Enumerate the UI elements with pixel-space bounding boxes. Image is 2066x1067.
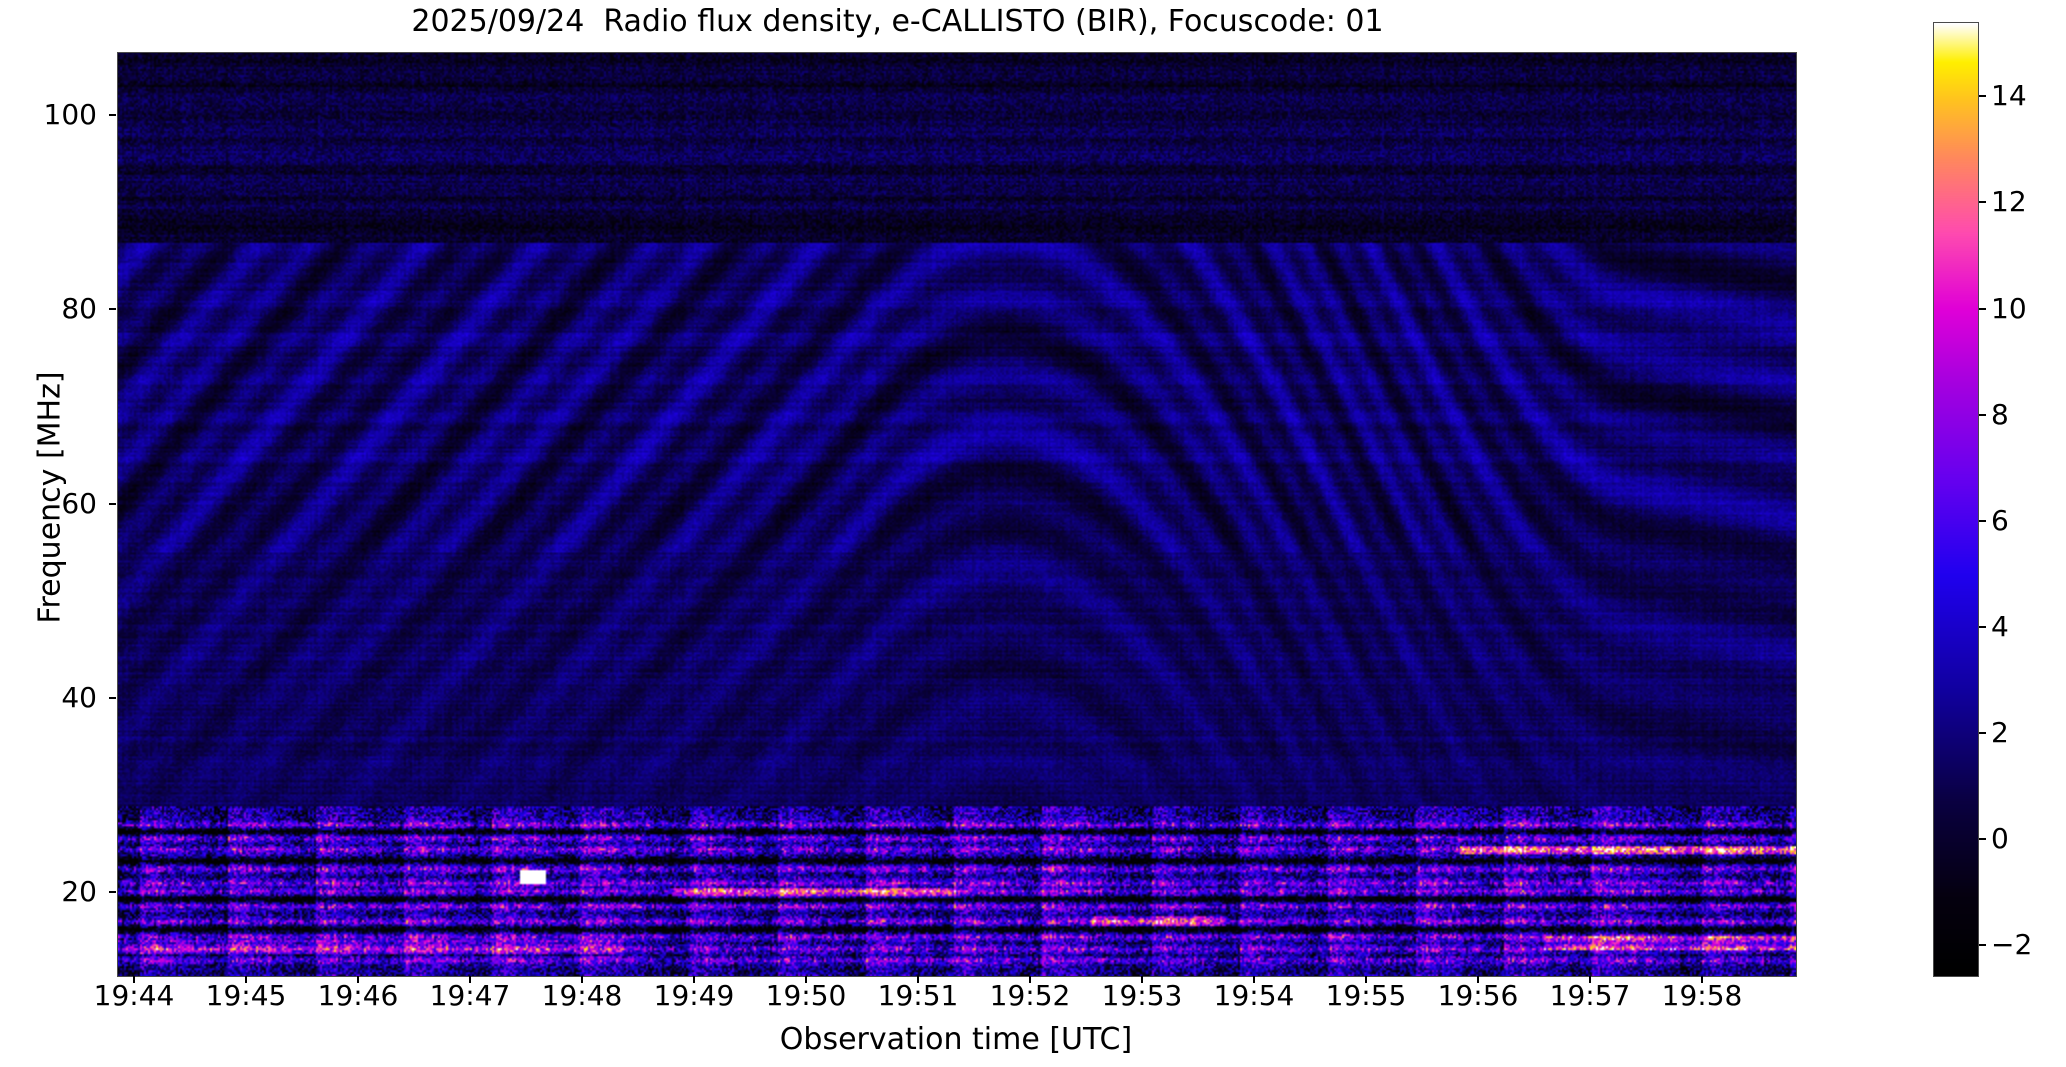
colorbar-tick-label: 4 (1991, 613, 2009, 641)
colorbar-image (1934, 23, 1978, 976)
colorbar-tick-mark (1979, 308, 1986, 310)
colorbar-tick-label: 8 (1991, 401, 2009, 429)
colorbar-tick-label: 6 (1991, 507, 2009, 535)
colorbar-gradient (1933, 22, 1979, 977)
colorbar-tick-mark (1979, 414, 1986, 416)
colorbar-tick-label: 12 (1991, 188, 2027, 216)
colorbar-tick-mark (1979, 732, 1986, 734)
colorbar-tick-label: −2 (1991, 931, 2032, 959)
colorbar-tick-label: 10 (1991, 295, 2027, 323)
x-tick-label: 19:58 (1632, 982, 1772, 1010)
x-axis-title: Observation time [UTC] (117, 1022, 1795, 1057)
page-title: 2025/09/24 Radio flux density, e-CALLIST… (0, 4, 1795, 39)
y-tick-mark (109, 891, 116, 893)
y-tick-label: 40 (17, 684, 97, 712)
y-tick-label: 80 (17, 295, 97, 323)
colorbar-tick-mark (1979, 626, 1986, 628)
spectrogram-image (118, 53, 1796, 976)
colorbar-tick-mark (1979, 520, 1986, 522)
colorbar: 14121086420−2 (1933, 22, 1979, 977)
colorbar-tick-label: 0 (1991, 825, 2009, 853)
colorbar-tick-mark (1979, 95, 1986, 97)
colorbar-tick-mark (1979, 201, 1986, 203)
colorbar-tick-mark (1979, 838, 1986, 840)
y-tick-mark (109, 114, 116, 116)
spectrogram-plot (117, 52, 1797, 977)
colorbar-tick-label: 2 (1991, 719, 2009, 747)
y-tick-mark (109, 503, 116, 505)
colorbar-tick-mark (1979, 944, 1986, 946)
y-tick-label: 100 (17, 101, 97, 129)
y-tick-mark (109, 697, 116, 699)
y-tick-label: 20 (17, 878, 97, 906)
y-tick-label: 60 (17, 490, 97, 518)
colorbar-tick-label: 14 (1991, 82, 2027, 110)
y-tick-mark (109, 308, 116, 310)
